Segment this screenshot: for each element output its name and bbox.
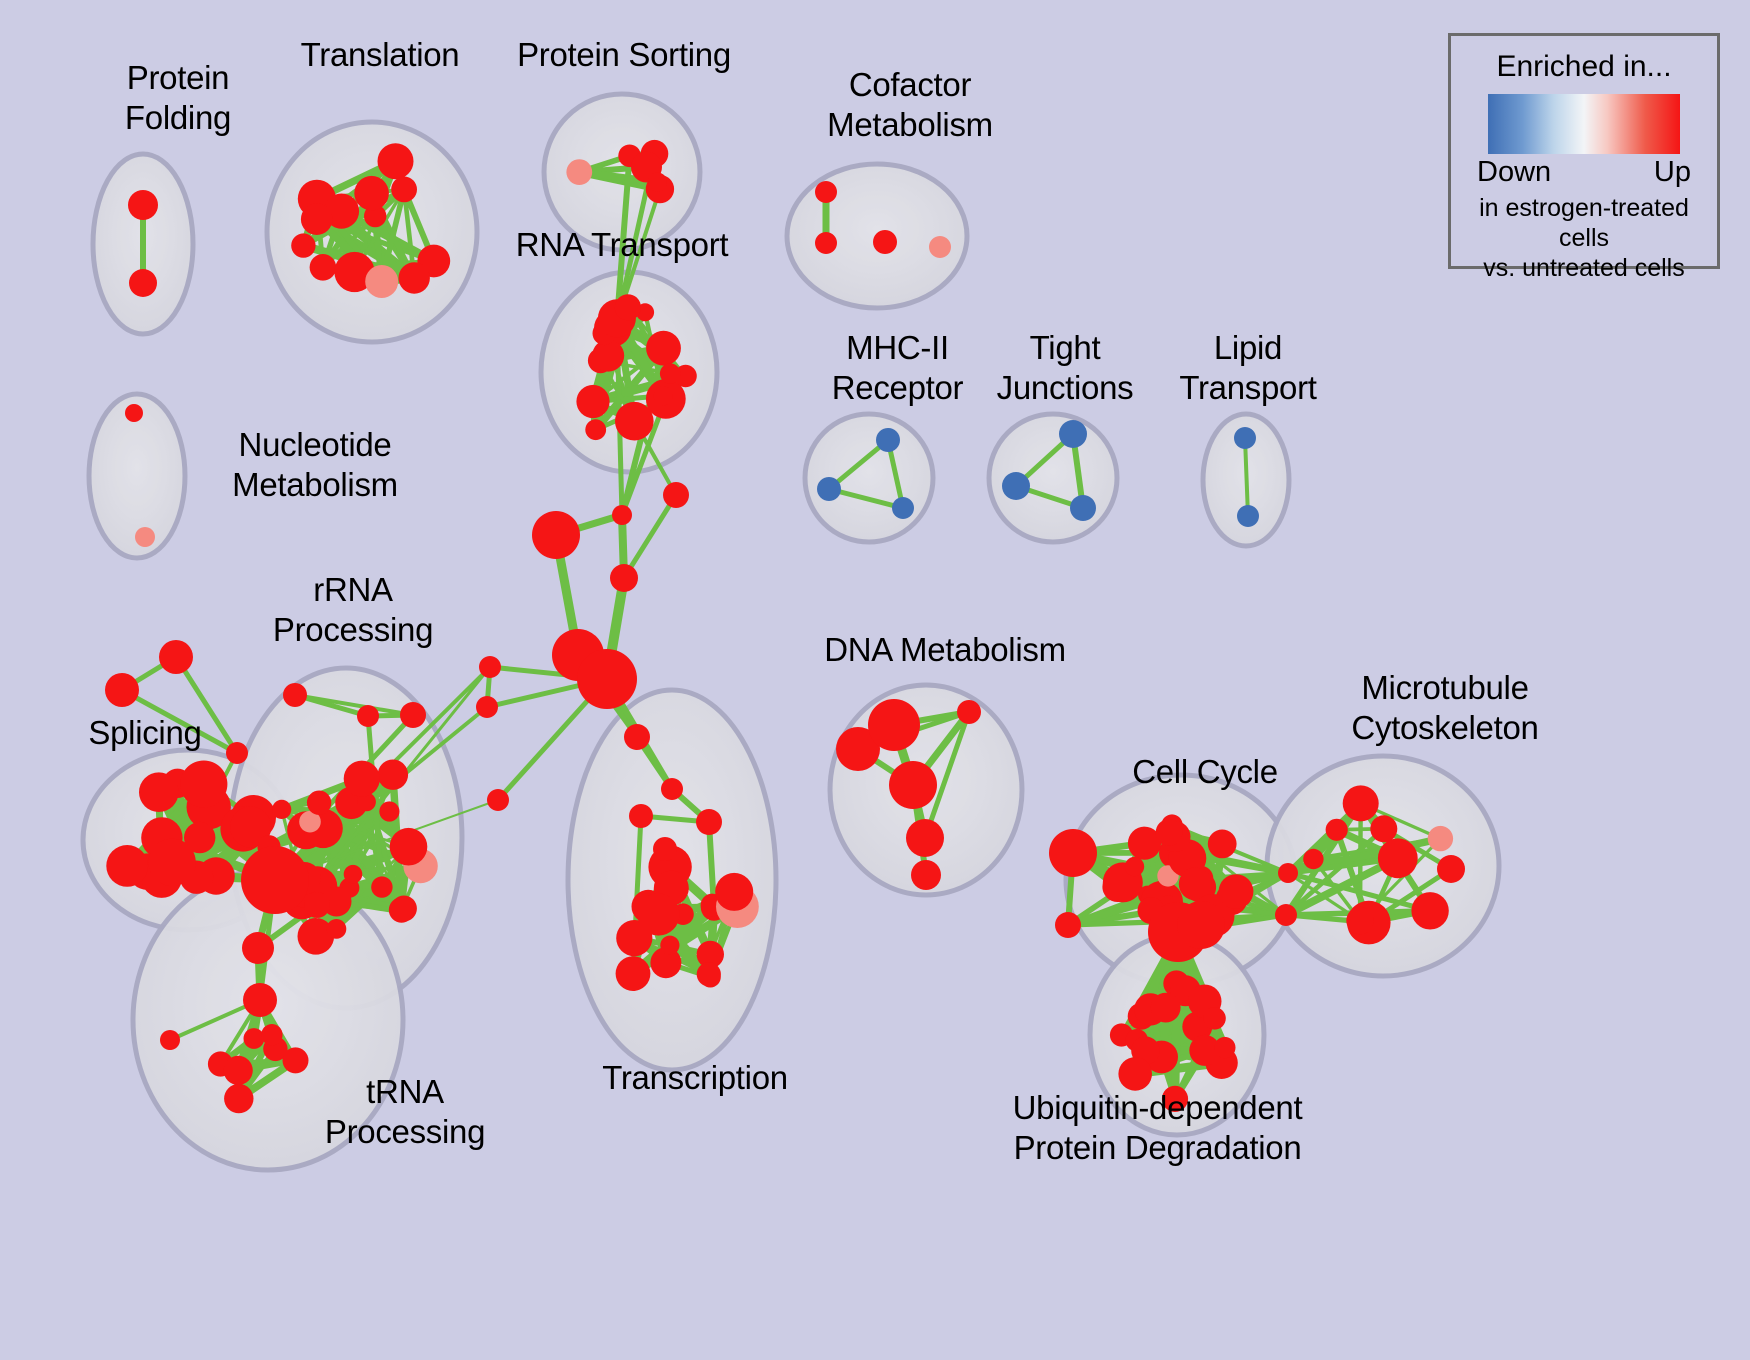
network-node (357, 705, 379, 727)
network-node (1437, 855, 1465, 883)
network-node (241, 846, 309, 914)
network-node (139, 772, 179, 812)
legend-title: Enriched in... (1451, 50, 1717, 84)
network-node (160, 1030, 180, 1050)
network-node (1049, 829, 1097, 877)
network-node (226, 742, 248, 764)
network-node (1177, 901, 1225, 949)
network-node (354, 176, 389, 211)
network-node (1378, 838, 1418, 878)
network-node (715, 873, 753, 911)
network-node (307, 791, 331, 815)
network-node (399, 262, 430, 293)
network-node (283, 1047, 309, 1073)
network-node (129, 269, 157, 297)
network-node (1343, 785, 1379, 821)
network-node (1156, 819, 1183, 846)
network-node (1303, 849, 1323, 869)
cluster-hulls (83, 94, 1499, 1170)
network-node (868, 699, 920, 751)
network-node (1208, 830, 1237, 859)
network-node (310, 254, 337, 281)
network-node (654, 386, 673, 405)
network-node (1203, 1007, 1225, 1029)
network-node (301, 203, 333, 235)
network-node (159, 640, 193, 674)
network-node (815, 181, 837, 203)
network-node (629, 804, 653, 828)
network-node (1214, 1037, 1235, 1058)
network-node (653, 837, 677, 861)
network-node (929, 236, 951, 258)
network-node (476, 696, 498, 718)
network-node (1370, 815, 1397, 842)
network-node (389, 897, 414, 922)
network-node (327, 919, 347, 939)
network-node (1411, 892, 1448, 929)
network-node (180, 761, 227, 808)
network-node (283, 683, 307, 707)
legend-high-label: Up (1654, 156, 1691, 189)
network-node (577, 649, 637, 709)
network-node (224, 1056, 253, 1085)
network-node (1219, 874, 1254, 909)
network-node (224, 1084, 253, 1113)
network-node (637, 893, 679, 935)
network-node (272, 800, 291, 819)
network-node (1162, 1086, 1188, 1112)
network-node (128, 190, 158, 220)
network-node (106, 845, 148, 887)
legend-endpoints: Down Up (1477, 156, 1691, 189)
network-node (661, 778, 683, 800)
network-node (243, 983, 277, 1017)
network-node (304, 892, 330, 918)
network-node (291, 233, 315, 257)
network-node (663, 482, 689, 508)
network-node (615, 294, 641, 320)
network-node (696, 809, 722, 835)
network-node (911, 860, 941, 890)
network-node (378, 760, 408, 790)
network-node (1346, 907, 1373, 934)
network-node (873, 230, 897, 254)
network-node (585, 419, 606, 440)
network-node (371, 876, 392, 897)
network-node (379, 801, 399, 821)
network-node (815, 232, 837, 254)
network-node (697, 962, 721, 986)
network-node (1070, 495, 1096, 521)
network-node (1118, 1057, 1152, 1091)
network-node (378, 143, 414, 179)
legend-low-label: Down (1477, 156, 1551, 189)
network-node (1125, 857, 1144, 876)
network-node (390, 828, 428, 866)
network-node (261, 1024, 282, 1045)
network-node (344, 761, 380, 797)
network-node (646, 331, 681, 366)
network-node (566, 159, 592, 185)
network-node (1275, 904, 1297, 926)
network-node (532, 511, 580, 559)
network-node (1278, 863, 1298, 883)
network-node (1237, 505, 1259, 527)
network-node (876, 428, 900, 452)
network-node (957, 700, 981, 724)
network-node (1059, 420, 1087, 448)
network-node (487, 789, 509, 811)
network-node (892, 497, 914, 519)
network-node (244, 1028, 265, 1049)
network-node (1326, 819, 1348, 841)
network-node (648, 173, 667, 192)
network-node (576, 385, 609, 418)
network-node (148, 839, 195, 886)
network-edge (624, 495, 676, 578)
network-node (1151, 993, 1181, 1023)
network-node (612, 505, 632, 525)
network-node (479, 656, 501, 678)
network-node (365, 265, 398, 298)
network-node (616, 956, 651, 991)
network-node (1428, 826, 1453, 851)
network-node (400, 702, 426, 728)
legend-caption: in estrogen-treated cells vs. untreated … (1451, 193, 1717, 283)
network-node (906, 819, 944, 857)
network-node (1055, 912, 1081, 938)
network-node (889, 761, 937, 809)
legend-box: Enriched in... Down Up in estrogen-treat… (1448, 33, 1720, 269)
network-node (660, 363, 681, 384)
network-node (624, 724, 650, 750)
network-node (344, 865, 363, 884)
cluster-hull-mhc-ii-receptor (805, 414, 933, 542)
enrichment-map-figure: Protein FoldingTranslationProtein Sortin… (0, 0, 1750, 1360)
network-node (125, 404, 143, 422)
network-node (135, 527, 155, 547)
network-node (242, 932, 274, 964)
network-node (391, 177, 417, 203)
network-node (610, 564, 638, 592)
network-node (660, 936, 679, 955)
network-node (1234, 427, 1256, 449)
network-node (105, 673, 139, 707)
network-node (817, 477, 841, 501)
legend-color-gradient (1488, 94, 1680, 154)
network-node (615, 402, 654, 441)
network-node (1002, 472, 1030, 500)
